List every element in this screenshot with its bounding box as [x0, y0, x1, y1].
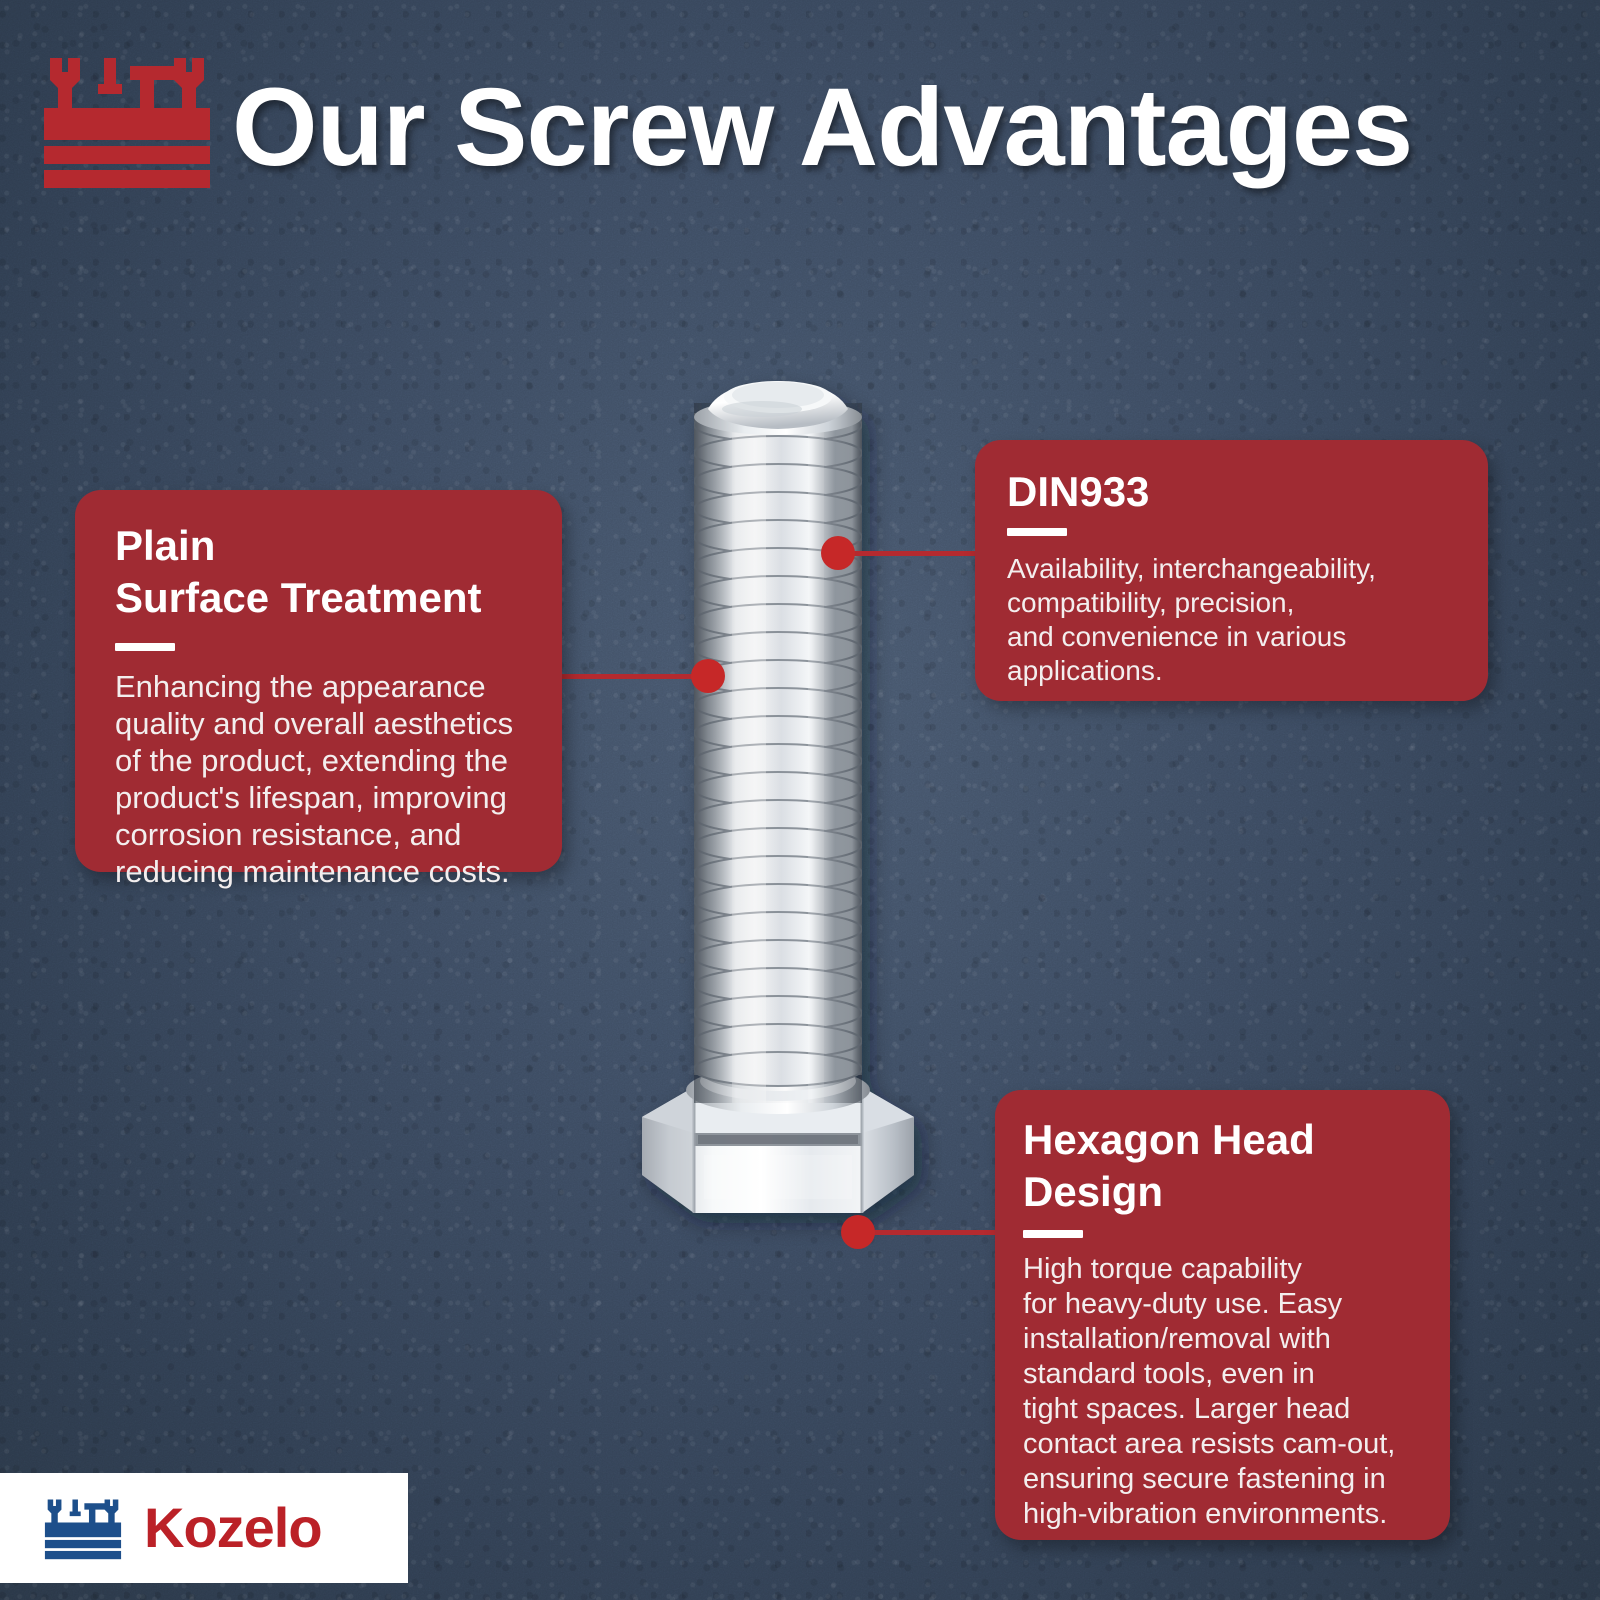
connector-line-hex: [868, 1230, 998, 1235]
connector-line-din: [848, 551, 978, 556]
connector-line-plain: [562, 674, 712, 679]
card-divider: [115, 643, 175, 651]
page-title: Our Screw Advantages: [232, 62, 1592, 197]
hex-head-bolt-image: [612, 365, 942, 1265]
connector-dot-hex: [841, 1215, 875, 1249]
brand-name: Kozelo: [144, 1500, 322, 1556]
card-title: Plain Surface Treatment: [115, 520, 481, 624]
toolbox-icon: [44, 1495, 122, 1561]
infographic-canvas: Our Screw Advantages: [0, 0, 1600, 1600]
card-body: Enhancing the appearance quality and ove…: [115, 668, 545, 890]
header: Our Screw Advantages: [0, 0, 1600, 215]
card-body: High torque capability for heavy-duty us…: [1023, 1252, 1443, 1532]
card-title: DIN933: [1007, 466, 1149, 518]
card-plain-surface-treatment[interactable]: Plain Surface Treatment Enhancing the ap…: [75, 490, 562, 872]
card-din933[interactable]: DIN933 Availability, interchangeability,…: [975, 440, 1488, 701]
card-divider: [1023, 1230, 1083, 1238]
card-title: Hexagon Head Design: [1023, 1114, 1315, 1218]
connector-dot-din: [821, 536, 855, 570]
card-hexagon-head-design[interactable]: Hexagon Head Design High torque capabili…: [995, 1090, 1450, 1540]
card-body: Availability, interchangeability, compat…: [1007, 552, 1477, 688]
connector-dot-plain: [691, 659, 725, 693]
card-divider: [1007, 528, 1067, 536]
brand-logo-bar: Kozelo: [0, 1473, 408, 1583]
toolbox-icon: [42, 50, 212, 190]
